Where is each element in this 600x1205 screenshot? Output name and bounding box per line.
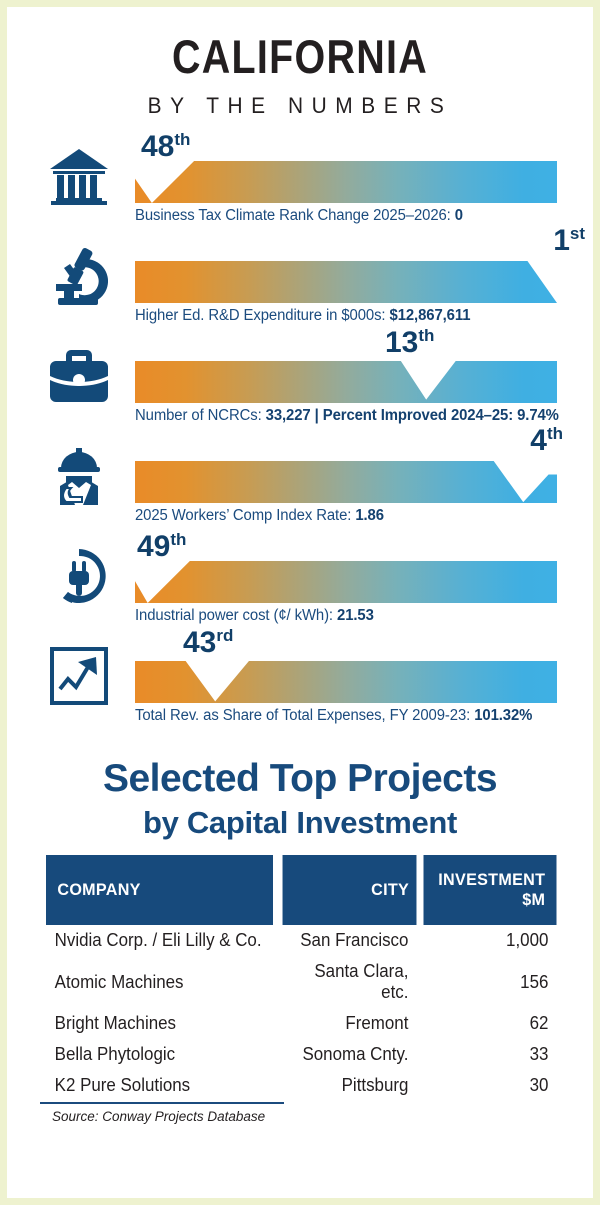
rank-label: 43rd bbox=[183, 627, 233, 658]
cell-city: Santa Clara, etc. bbox=[283, 956, 416, 1008]
cell-city: Sonoma Cnty. bbox=[283, 1039, 416, 1070]
briefcase-icon bbox=[43, 341, 115, 411]
cell-company: Bright Machines bbox=[47, 1008, 271, 1039]
power-plug-icon bbox=[43, 541, 115, 611]
stat-row: 43rd Total Rev. as Share of Total Expens… bbox=[25, 635, 593, 735]
stat-row: 48th Business Tax Climate Rank Change 20… bbox=[25, 135, 593, 235]
rank-bar bbox=[135, 661, 557, 703]
stat-row: 13th Number of NCRCs: 33,227 | Percent I… bbox=[25, 335, 593, 435]
stat-rows: 48th Business Tax Climate Rank Change 20… bbox=[7, 135, 593, 735]
rank-label: 48th bbox=[141, 131, 190, 162]
rank-bar bbox=[135, 461, 557, 503]
cell-investment: 33 bbox=[424, 1039, 556, 1070]
page-subtitle: BY THE NUMBERS bbox=[22, 93, 579, 119]
page-title: CALIFORNIA bbox=[54, 33, 546, 80]
cell-city: Fremont bbox=[283, 1008, 416, 1039]
stat-caption: Industrial power cost (¢/ kWh): 21.53 bbox=[135, 607, 374, 625]
rank-bar-fill bbox=[135, 461, 557, 503]
rank-label: 1st bbox=[553, 225, 585, 256]
rank-bar-fill bbox=[135, 561, 557, 603]
rank-bar bbox=[135, 361, 557, 403]
table-row: Atomic Machines Santa Clara, etc. 156 bbox=[40, 956, 560, 1008]
rank-bar bbox=[135, 161, 557, 203]
rank-label: 49th bbox=[137, 531, 186, 562]
table-row: Bella Phytologic Sonoma Cnty. 33 bbox=[40, 1039, 560, 1070]
stat-row: 1st Higher Ed. R&D Expenditure in $000s:… bbox=[25, 235, 593, 335]
cell-city: Pittsburg bbox=[283, 1070, 416, 1101]
rank-bar-fill bbox=[135, 161, 557, 203]
projects-table: COMPANY CITY INVESTMENT $M Nvidia Corp. … bbox=[40, 855, 560, 1101]
stat-caption: Higher Ed. R&D Expenditure in $000s: $12… bbox=[135, 307, 470, 325]
table-header-row: COMPANY CITY INVESTMENT $M bbox=[40, 855, 560, 925]
microscope-icon bbox=[43, 241, 115, 311]
stat-caption: Total Rev. as Share of Total Expenses, F… bbox=[135, 707, 532, 725]
cell-investment: 62 bbox=[424, 1008, 556, 1039]
table-body: Nvidia Corp. / Eli Lilly & Co. San Franc… bbox=[40, 925, 560, 1101]
stat-caption: Business Tax Climate Rank Change 2025–20… bbox=[135, 207, 463, 225]
cell-investment: 30 bbox=[424, 1070, 556, 1101]
cell-company: Nvidia Corp. / Eli Lilly & Co. bbox=[47, 925, 271, 956]
column-header-investment: INVESTMENT $M bbox=[423, 855, 556, 925]
cell-city: San Francisco bbox=[283, 925, 416, 956]
table-row: K2 Pure Solutions Pittsburg 30 bbox=[40, 1070, 560, 1101]
rank-label: 13th bbox=[385, 327, 434, 358]
rank-bar bbox=[135, 561, 557, 603]
bank-icon bbox=[43, 141, 115, 211]
infographic-inner: CALIFORNIA BY THE NUMBERS 48th bbox=[7, 7, 593, 1198]
rank-label: 4th bbox=[530, 425, 563, 456]
worker-icon bbox=[43, 441, 115, 511]
header: CALIFORNIA BY THE NUMBERS bbox=[7, 7, 593, 119]
stat-caption: Number of NCRCs: 33,227 | Percent Improv… bbox=[135, 407, 559, 425]
cell-company: Atomic Machines bbox=[47, 956, 271, 1008]
source-note: Source: Conway Projects Database bbox=[40, 1109, 560, 1124]
column-header-city: CITY bbox=[282, 855, 416, 925]
projects-subtitle: by Capital Investment bbox=[7, 804, 593, 841]
rank-bar bbox=[135, 261, 557, 303]
cell-investment: 1,000 bbox=[424, 925, 556, 956]
cell-company: Bella Phytologic bbox=[47, 1039, 271, 1070]
table-bottom-rule bbox=[40, 1102, 284, 1104]
rank-bar-fill bbox=[135, 361, 557, 403]
stat-caption: 2025 Workers’ Comp Index Rate: 1.86 bbox=[135, 507, 384, 525]
projects-title: Selected Top Projects bbox=[7, 759, 593, 800]
rank-bar-fill bbox=[135, 661, 557, 703]
cell-investment: 156 bbox=[424, 956, 556, 1008]
column-header-company: COMPANY bbox=[46, 855, 273, 925]
table-row: Nvidia Corp. / Eli Lilly & Co. San Franc… bbox=[40, 925, 560, 956]
cell-company: K2 Pure Solutions bbox=[47, 1070, 271, 1101]
infographic-page: CALIFORNIA BY THE NUMBERS 48th bbox=[0, 0, 600, 1205]
table-head: COMPANY CITY INVESTMENT $M bbox=[40, 855, 560, 925]
projects-section: Selected Top Projects by Capital Investm… bbox=[7, 759, 593, 1124]
growth-chart-icon bbox=[43, 641, 115, 711]
stat-row: 4th 2025 Workers’ Comp Index Rate: 1.86 bbox=[25, 435, 593, 535]
rank-bar-fill bbox=[135, 261, 557, 303]
table-row: Bright Machines Fremont 62 bbox=[40, 1008, 560, 1039]
projects-table-box: COMPANY CITY INVESTMENT $M Nvidia Corp. … bbox=[40, 855, 560, 1124]
stat-row: 49th Industrial power cost (¢/ kWh): 21.… bbox=[25, 535, 593, 635]
